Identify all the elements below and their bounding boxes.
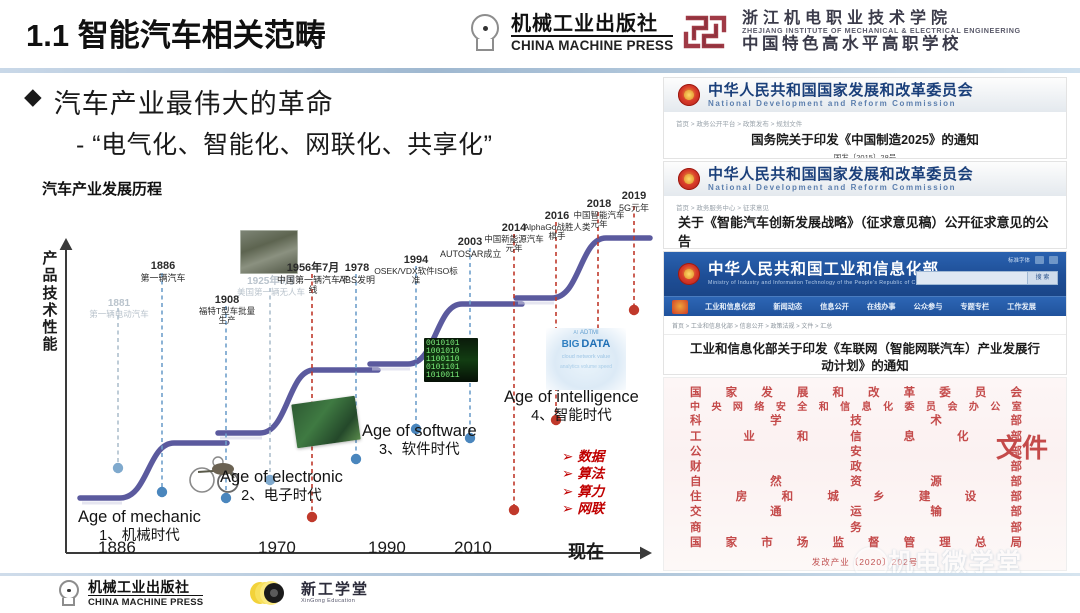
bullet-level1-text: 汽车产业最伟大的革命: [54, 82, 334, 121]
circuit-board-photo: [291, 396, 361, 448]
red-org-line: 商务部: [690, 521, 1022, 536]
red-org-line: 科学技术部: [690, 414, 1022, 429]
intelligence-keyword-list: ➢数据 ➢算法 ➢算力 ➢网联: [562, 448, 604, 517]
national-emblem-icon: [678, 168, 700, 190]
event-label: 2019 5G元年: [608, 190, 660, 213]
nav-item[interactable]: 工作发展: [998, 302, 1045, 312]
english-version-icon[interactable]: [1049, 256, 1058, 264]
nav-item[interactable]: 信息公开: [811, 302, 858, 312]
bullet-level2-text: - “电气化、智能化、网联化、共享化”: [76, 125, 664, 161]
red-doc-label: 文件: [996, 428, 1048, 465]
red-org-line: 自然资源部: [690, 475, 1022, 490]
doc-org-cn: 中华人民共和国国家发展和改革委员会: [708, 83, 973, 98]
doc-panel-miit-iov-action-plan[interactable]: 中华人民共和国工业和信息化部 Ministry of Industry and …: [664, 252, 1066, 374]
home-emblem-icon[interactable]: [672, 300, 688, 314]
event-label: 1886 第一辆汽车: [132, 260, 194, 283]
red-org-line: 国家市场监督管理总局: [690, 536, 1022, 551]
ndrc-header: 中华人民共和国国家发展和改革委员会 National Development a…: [664, 162, 1066, 196]
school-subtitle-cn: 中国特色高水平高职学校: [742, 36, 1021, 53]
red-doc-number: 发改产业〔2020〕202号: [664, 551, 1066, 570]
keyword-item: ➢网联: [562, 500, 604, 517]
red-org-line: 公安部: [690, 445, 1022, 460]
miit-header: 中华人民共和国工业和信息化部 Ministry of Industry and …: [664, 252, 1066, 296]
footer-publisher-cn: 机械工业出版社: [88, 580, 203, 596]
footer-academy-cn: 新工学堂: [301, 582, 369, 597]
gear-press-logo-icon: [58, 580, 82, 607]
red-org-line: 交通运输部: [690, 505, 1022, 520]
doc-title[interactable]: 关于《智能汽车创新发展战略》（征求意见稿）公开征求意见的公告: [664, 214, 1066, 248]
doc-org-en: National Development and Reform Commissi…: [708, 100, 973, 108]
era-label: Age of electronic 2、电子时代: [220, 468, 343, 505]
header-divider: [0, 68, 1080, 73]
doc-breadcrumb[interactable]: 首页 > 工业和信息化部 > 信息公开 > 政策法规 > 文件 > 汇总: [664, 316, 1066, 334]
national-emblem-icon: [678, 84, 700, 106]
diamond-bullet-icon: ◆: [24, 84, 42, 109]
doc-panel-made-in-china-2025[interactable]: 中华人民共和国国家发展和改革委员会 National Development a…: [664, 78, 1066, 158]
red-org-line: 工业和信息化部: [690, 430, 1022, 445]
doc-org-cn: 中华人民共和国国家发展和改革委员会: [708, 167, 973, 182]
doc-title[interactable]: 国务院关于印发《中国制造2025》的通知: [664, 130, 1066, 149]
era-label: Age of intelligence 4、智能时代: [504, 388, 639, 425]
search-input[interactable]: [916, 271, 1028, 285]
x-tick: 1886: [98, 538, 136, 558]
slide-root: 1.1 智能汽车相关范畴 机械工业出版社 CHINA MACHINE PRESS: [0, 0, 1080, 613]
font-size-toggle[interactable]: 标准字体: [1008, 256, 1030, 264]
x-tick: 1970: [258, 538, 296, 558]
doc-title[interactable]: 工业和信息化部关于印发《车联网（智能网联汽车）产业发展行动计划》的通知: [664, 339, 1066, 374]
doc-number: 国发〔2015〕28号: [664, 149, 1066, 158]
x-tick: 2010: [454, 538, 492, 558]
footer-divider: [0, 573, 1080, 576]
nav-item[interactable]: 新闻动态: [764, 302, 811, 312]
red-org-line: 财政部: [690, 460, 1022, 475]
bullet-list: ◆ 汽车产业最伟大的革命 - “电气化、智能化、网联化、共享化”: [24, 82, 664, 161]
publisher-name-en: CHINA MACHINE PRESS: [511, 39, 673, 53]
x-tick: 1990: [368, 538, 406, 558]
event-label: 1881 第一辆电动汽车: [84, 298, 154, 319]
slide-header: 1.1 智能汽车相关范畴 机械工业出版社 CHINA MACHINE PRESS: [0, 0, 1080, 72]
yellow-disc-logo-icon: [248, 580, 294, 606]
x-axis-labels: 1886 1970 1990 2010 现在: [22, 538, 662, 568]
publisher-logo: 机械工业出版社 CHINA MACHINE PRESS: [470, 14, 673, 53]
footer-academy-logo: 新工学堂 XinGong Education: [248, 580, 369, 606]
traditional-chinese-icon[interactable]: [1035, 256, 1044, 264]
event-label: 1908 福特T型车批量生产: [196, 294, 258, 326]
red-government-document[interactable]: 国家发展和改革委员会 中央网络安全和信息化委员会办公室 科学技术部 工业和信息化…: [664, 378, 1066, 570]
nav-item[interactable]: 工业和信息化部: [696, 302, 764, 312]
miit-toolbar[interactable]: 标准字体: [1008, 256, 1058, 264]
red-org-line: 住房和城乡建设部: [690, 490, 1022, 505]
footer-academy-en: XinGong Education: [301, 599, 369, 605]
red-org-line: 中央网络安全和信息化委员会办公室: [690, 401, 1022, 414]
page-title: 1.1 智能汽车相关范畴: [26, 10, 326, 55]
era-label: Age of software 3、软件时代: [362, 422, 477, 459]
doc-org-en: Ministry of Industry and Information Tec…: [708, 281, 939, 286]
red-org-line: 国家发展和改革委员会: [690, 386, 1022, 401]
nav-item[interactable]: 专题专栏: [951, 302, 998, 312]
doc-breadcrumb[interactable]: 首页 > 政务公开平台 > 政策发布 > 规划文件: [664, 112, 1066, 130]
x-tick-now: 现在: [568, 538, 604, 564]
doc-breadcrumb[interactable]: 首页 > 政务服务中心 > 征求意见: [664, 196, 1066, 214]
binary-code-photo: 00101011001010110011001011011010011: [424, 338, 478, 382]
national-emblem-icon: [678, 263, 700, 285]
miit-nav[interactable]: 工业和信息化部 新闻动态 信息公开 在线办事 公众参与 专题专栏 工作发展: [664, 296, 1066, 316]
footer-publisher-logo: 机械工业出版社 CHINA MACHINE PRESS: [58, 580, 203, 608]
doc-org-en: National Development and Reform Commissi…: [708, 184, 973, 192]
doc-panel-smart-vehicle-strategy-draft[interactable]: 中华人民共和国国家发展和改革委员会 National Development a…: [664, 162, 1066, 248]
school-name-cn: 浙江机电职业技术学院: [742, 11, 1021, 28]
big-data-wordcloud-photo: AI ADTMI BIG DATA cloud network value an…: [546, 328, 626, 390]
nav-item[interactable]: 在线办事: [858, 302, 905, 312]
doc-org-cn: 中华人民共和国工业和信息化部: [708, 262, 939, 278]
keyword-item: ➢算法: [562, 465, 604, 482]
gear-press-logo-icon: [470, 14, 504, 52]
zjime-knot-logo-icon: [676, 8, 734, 56]
timeline-chart: 汽车产业发展历程 产品技术性能: [22, 178, 662, 573]
footer-publisher-en: CHINA MACHINE PRESS: [88, 598, 203, 608]
ndrc-header: 中华人民共和国国家发展和改革委员会 National Development a…: [664, 78, 1066, 112]
bullet-level1: ◆ 汽车产业最伟大的革命: [24, 82, 664, 121]
policy-document-gallery: 中华人民共和国国家发展和改革委员会 National Development a…: [664, 78, 1066, 570]
school-name-en: ZHEJIANG INSTITUTE OF MECHANICAL & ELECT…: [742, 27, 1021, 35]
slide-footer: 机械工业出版社 CHINA MACHINE PRESS 新工学堂 XinGong…: [0, 573, 1080, 613]
school-logo: 浙江机电职业技术学院 ZHEJIANG INSTITUTE OF MECHANI…: [676, 8, 1021, 56]
miit-search[interactable]: 搜 索: [916, 271, 1058, 285]
publisher-name-cn: 机械工业出版社: [511, 14, 673, 37]
nav-item[interactable]: 公众参与: [905, 302, 952, 312]
keyword-item: ➢算力: [562, 483, 604, 500]
keyword-item: ➢数据: [562, 448, 604, 465]
search-button[interactable]: 搜 索: [1028, 271, 1058, 285]
